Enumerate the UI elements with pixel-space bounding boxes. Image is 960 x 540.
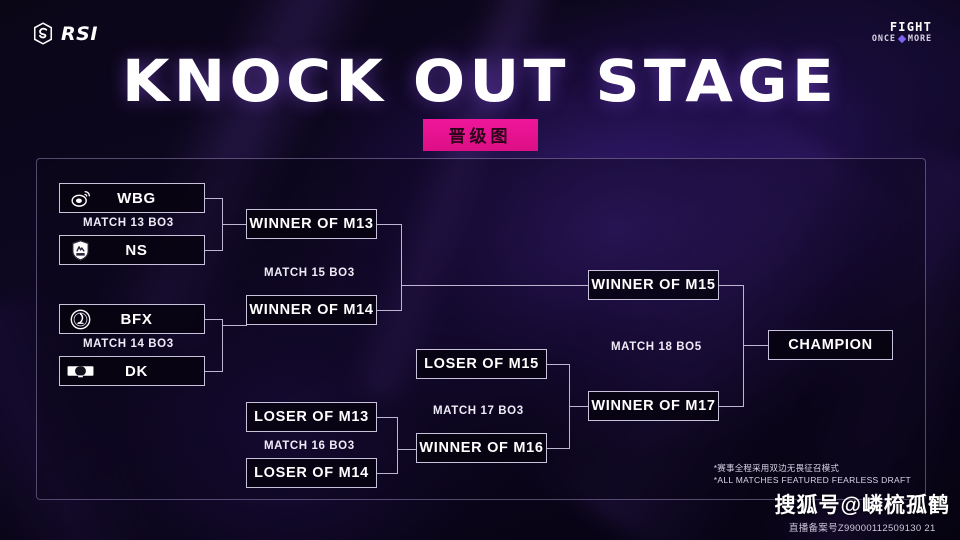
team-box-dk[interactable]: DK: [59, 356, 205, 386]
node-label: LOSER OF M15: [424, 356, 539, 372]
node-loser-of-m15[interactable]: LOSER OF M15: [416, 349, 547, 379]
connector-line: [205, 371, 222, 372]
footnote-block: *赛事全程采用双边无畏征召模式 *ALL MATCHES FEATURED FE…: [714, 462, 911, 488]
connector-line: [377, 473, 397, 474]
connector-line: [401, 224, 402, 311]
connector-line: [401, 285, 589, 286]
connector-line: [377, 224, 401, 225]
node-label: CHAMPION: [788, 337, 873, 353]
team-name: DK: [95, 363, 204, 380]
connector-line: [397, 449, 417, 450]
node-label: WINNER OF M16: [419, 440, 543, 456]
brand-name: RSI: [61, 23, 98, 45]
node-winner-of-m15[interactable]: WINNER OF M15: [588, 270, 719, 300]
connector-line: [719, 406, 743, 407]
node-winner-of-m14[interactable]: WINNER OF M14: [246, 295, 377, 325]
subtitle-banner: 晋级图: [423, 119, 538, 151]
node-champion[interactable]: CHAMPION: [768, 330, 893, 360]
connector-line: [547, 448, 569, 449]
brand-lockup: RSI: [32, 22, 98, 45]
once-label: ONCE: [872, 34, 896, 44]
knockout-stage-graphic: RSI FIGHT ONCE MORE KNOCK OUT STAGE 晋级图 …: [0, 0, 960, 540]
footnote-english: *ALL MATCHES FEATURED FEARLESS DRAFT: [714, 474, 911, 487]
footnote-chinese: *赛事全程采用双边无畏征召模式: [714, 462, 911, 475]
match-label-m17: MATCH 17 BO3: [433, 405, 524, 417]
connector-line: [397, 417, 398, 474]
nongshim-shield-logo-icon: [65, 239, 95, 261]
team-box-ns[interactable]: NS: [59, 235, 205, 265]
connector-line: [719, 285, 743, 286]
connector-line: [547, 364, 569, 365]
dplus-kia-logo-icon: [65, 360, 95, 382]
title-block: KNOCK OUT STAGE 晋级图: [0, 52, 960, 151]
node-label: WINNER OF M17: [591, 398, 715, 414]
connector-line: [743, 285, 744, 407]
rsi-spiral-hex-logo-icon: [32, 22, 54, 45]
node-loser-of-m13[interactable]: LOSER OF M13: [246, 402, 377, 432]
connector-line: [205, 198, 222, 199]
connector-line: [222, 319, 223, 372]
team-name: BFX: [95, 311, 204, 328]
team-name: WBG: [95, 190, 204, 207]
connector-line: [377, 310, 401, 311]
team-name: NS: [95, 242, 204, 259]
fight-once-more-lockup: FIGHT ONCE MORE: [872, 20, 932, 44]
match-label-m16: MATCH 16 BO3: [264, 440, 355, 452]
weibo-gaming-logo-icon: [65, 187, 95, 209]
bracket-panel: WBG NS BFX: [36, 158, 926, 500]
match-label-m14: MATCH 14 BO3: [83, 338, 174, 350]
fight-label: FIGHT: [872, 20, 932, 34]
connector-line: [222, 325, 247, 326]
node-winner-of-m16[interactable]: WINNER OF M16: [416, 433, 547, 463]
node-label: WINNER OF M15: [591, 277, 715, 293]
once-more-label: ONCE MORE: [872, 34, 932, 44]
diamond-icon: [898, 35, 906, 43]
connector-line: [377, 417, 397, 418]
watermark-block: 搜狐号@嶙梳孤鹤 直播备案号Z99000112509130 21: [775, 489, 950, 534]
page-title: KNOCK OUT STAGE: [0, 52, 960, 110]
node-label: WINNER OF M13: [249, 216, 373, 232]
node-winner-of-m17[interactable]: WINNER OF M17: [588, 391, 719, 421]
node-winner-of-m13[interactable]: WINNER OF M13: [246, 209, 377, 239]
node-label: WINNER OF M14: [249, 302, 373, 318]
connector-line: [569, 406, 589, 407]
connector-line: [205, 319, 222, 320]
team-box-bfx[interactable]: BFX: [59, 304, 205, 334]
node-label: LOSER OF M13: [254, 409, 369, 425]
connector-line: [205, 250, 222, 251]
match-label-m13: MATCH 13 BO3: [83, 217, 174, 229]
node-loser-of-m14[interactable]: LOSER OF M14: [246, 458, 377, 488]
connector-line: [743, 345, 769, 346]
match-label-m15: MATCH 15 BO3: [264, 267, 355, 279]
match-label-m18: MATCH 18 BO5: [611, 341, 702, 353]
node-label: LOSER OF M14: [254, 465, 369, 481]
team-box-wbg[interactable]: WBG: [59, 183, 205, 213]
more-label: MORE: [908, 34, 932, 44]
watermark-license: 直播备案号Z99000112509130 21: [775, 520, 950, 534]
bfx-circle-logo-icon: [65, 308, 95, 330]
connector-line: [222, 224, 247, 225]
watermark-account: 搜狐号@嶙梳孤鹤: [775, 489, 950, 519]
